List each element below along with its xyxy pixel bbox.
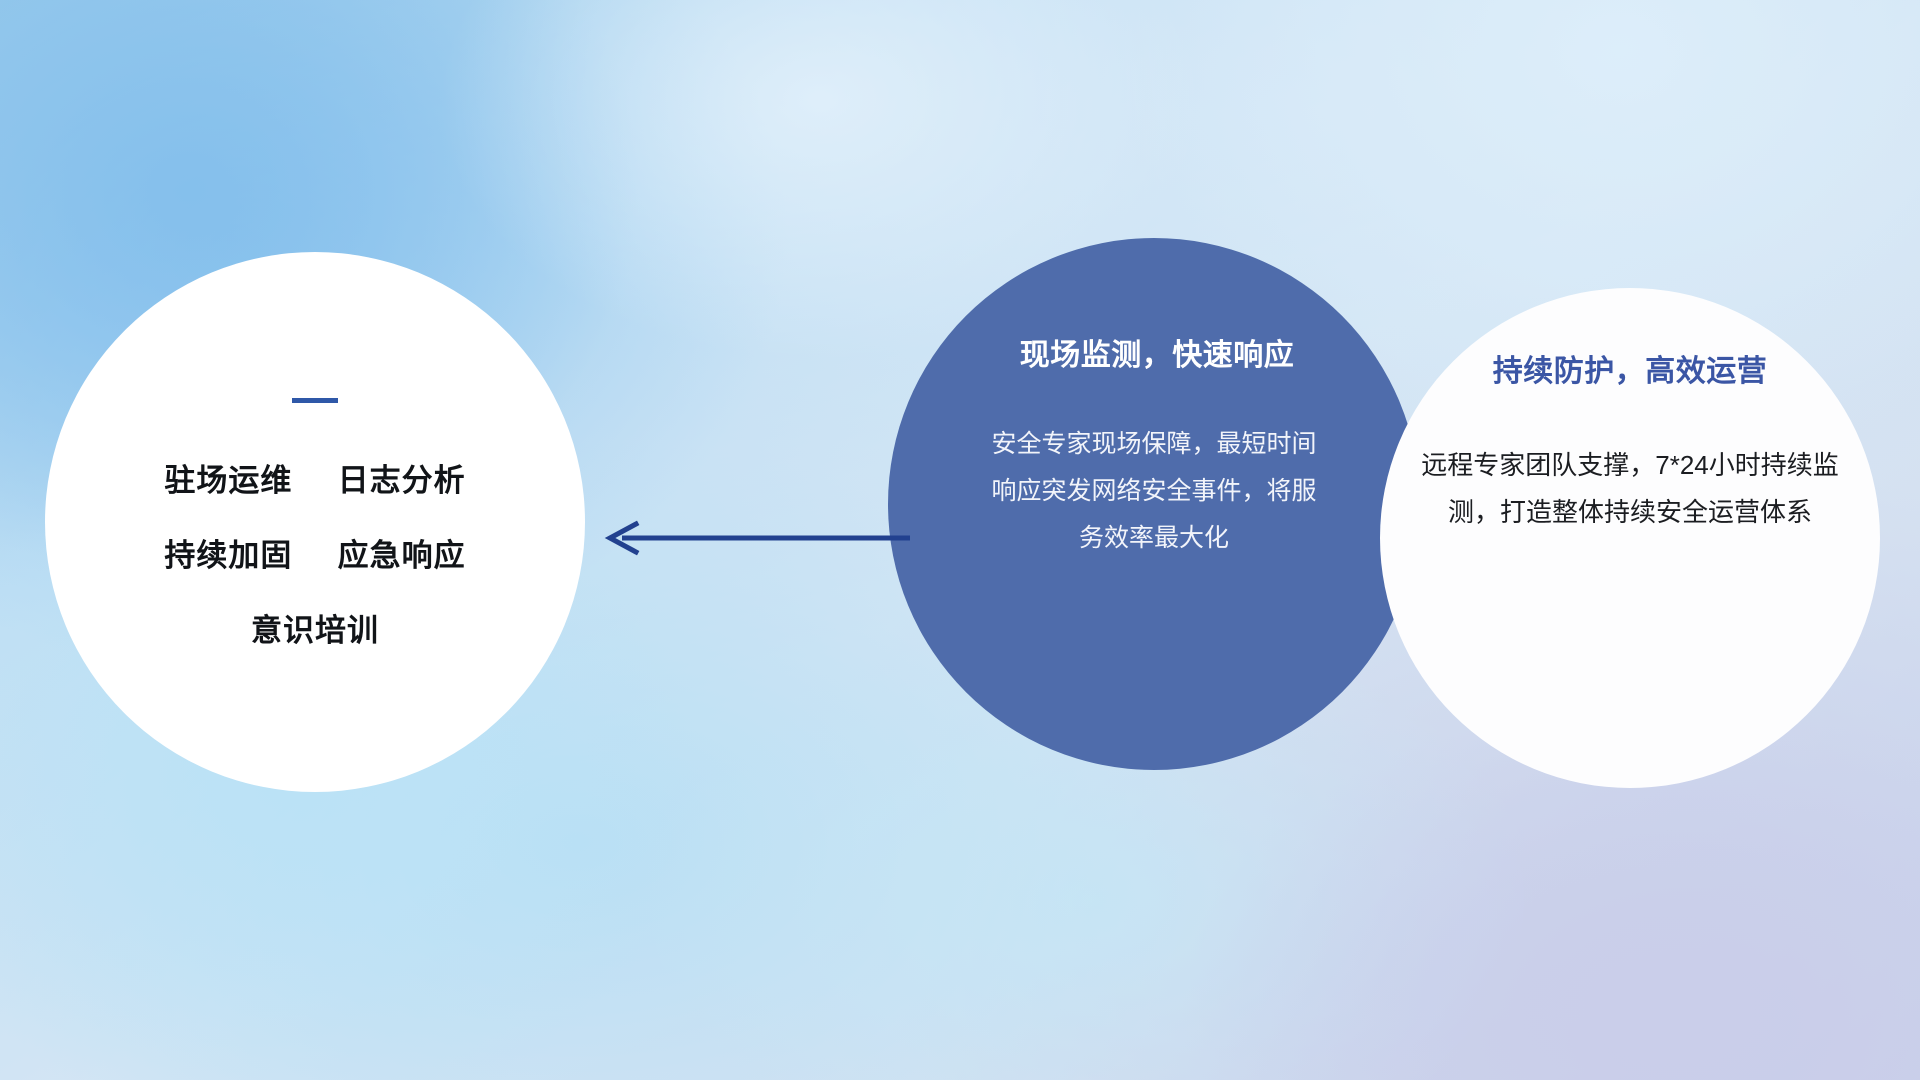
right-circle-title: 持续防护，高效运营 — [1493, 346, 1768, 390]
right-circle-content: 持续防护，高效运营 远程专家团队支撑，7*24小时持续监测，打造整体持续安全运营… — [1380, 288, 1880, 788]
capability-tag: 驻场运维 — [164, 463, 292, 498]
capability-circle-right: 持续防护，高效运营 远程专家团队支撑，7*24小时持续监测，打造整体持续安全运营… — [1380, 288, 1880, 788]
capability-list: 驻场运维 日志分析 持续加固 应急响应 意识培训 — [45, 252, 585, 792]
capability-tag: 日志分析 — [338, 463, 466, 498]
middle-circle-content: 现场监测，快速响应 安全专家现场保障，最短时间响应突发网络安全事件，将服务效率最… — [888, 238, 1420, 770]
capability-row: 驻场运维 日志分析 — [164, 465, 465, 496]
horizontal-rule-divider-icon — [292, 398, 338, 403]
capability-row: 持续加固 应急响应 — [164, 540, 465, 571]
slide-canvas: 驻场运维 日志分析 持续加固 应急响应 意识培训 现场监测，快速响应 安全专家现… — [0, 0, 1920, 1080]
capability-circle-left: 驻场运维 日志分析 持续加固 应急响应 意识培训 — [45, 252, 585, 792]
capability-tag: 意识培训 — [251, 613, 379, 648]
capability-row: 意识培训 — [251, 615, 379, 646]
left-arrow-icon — [592, 518, 912, 558]
capability-tag: 持续加固 — [164, 538, 292, 573]
right-circle-description: 远程专家团队支撑，7*24小时持续监测，打造整体持续安全运营体系 — [1420, 442, 1840, 536]
capability-circle-middle: 现场监测，快速响应 安全专家现场保障，最短时间响应突发网络安全事件，将服务效率最… — [888, 238, 1420, 770]
middle-circle-description: 安全专家现场保障，最短时间响应突发网络安全事件，将服务效率最大化 — [989, 421, 1319, 562]
capability-tag: 应急响应 — [338, 538, 466, 573]
middle-circle-title: 现场监测，快速响应 — [1020, 330, 1295, 374]
